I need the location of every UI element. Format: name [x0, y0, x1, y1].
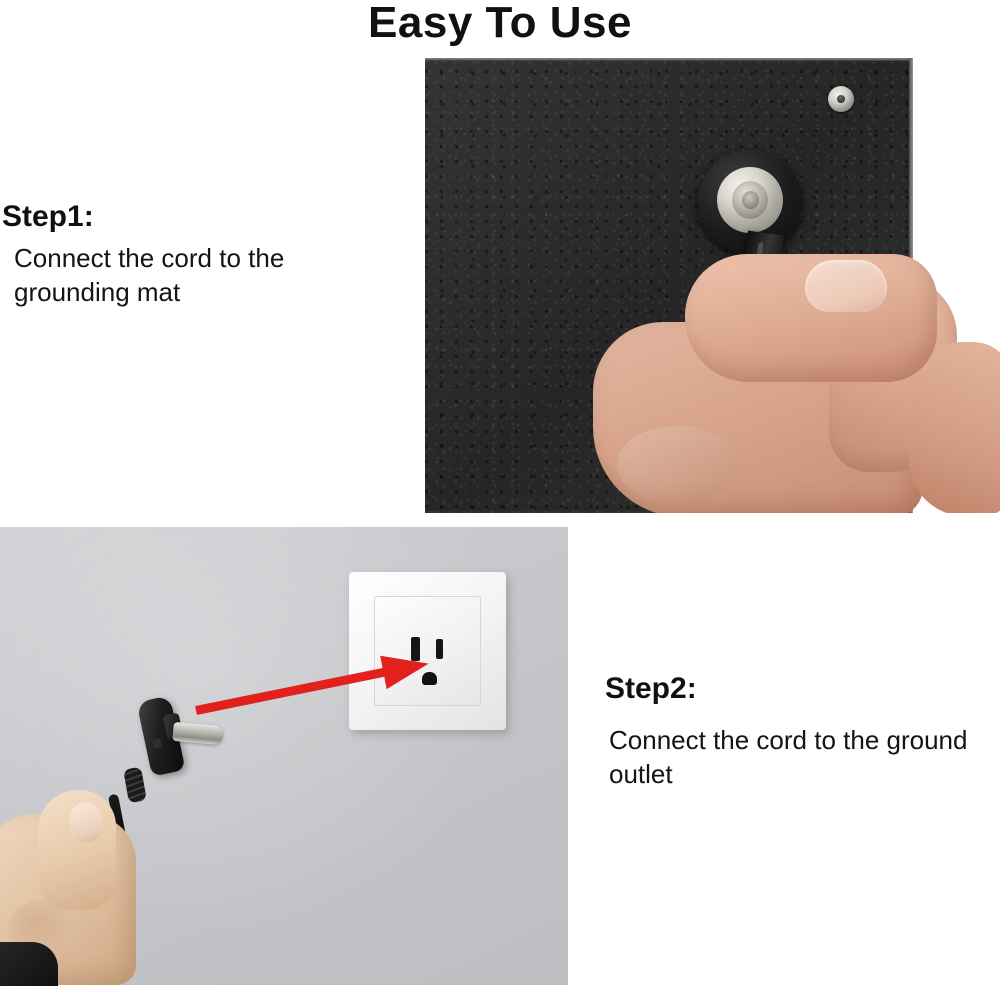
hand-thumb — [685, 254, 937, 382]
step2-text-block: Step2: Connect the cord to the ground ou… — [605, 672, 989, 792]
step1-body: Connect the cord to the grounding mat — [2, 241, 404, 310]
hand-thumbnail — [805, 260, 887, 312]
mat-top-edge — [425, 58, 913, 61]
wall-outlet-receptacle — [349, 572, 506, 730]
page-title: Easy To Use — [0, 0, 1000, 49]
hand-holding-plug — [0, 790, 178, 985]
hand2-sleeve — [0, 942, 58, 986]
outlet-hot-slot — [436, 639, 443, 659]
step1-text-block: Step1: Connect the cord to the grounding… — [2, 200, 404, 310]
mat-snap-stud-icon — [828, 86, 854, 112]
snap-metal-ring-outer — [717, 167, 783, 233]
step2-heading: Step2: — [605, 672, 989, 705]
step1-heading: Step1: — [2, 200, 404, 233]
hand-knuckle-highlight — [617, 426, 737, 504]
snap-metal-ring-inner — [732, 181, 768, 219]
snap-metal-core — [742, 191, 759, 209]
hand2-fingernail — [70, 802, 102, 842]
hand-pressing-connector — [593, 254, 1000, 513]
outlet-inner-plate — [374, 596, 481, 706]
photo-grounding-mat — [425, 58, 1000, 513]
step2-body: Connect the cord to the ground outlet — [605, 723, 989, 792]
hand-finger-ring — [909, 342, 1000, 513]
